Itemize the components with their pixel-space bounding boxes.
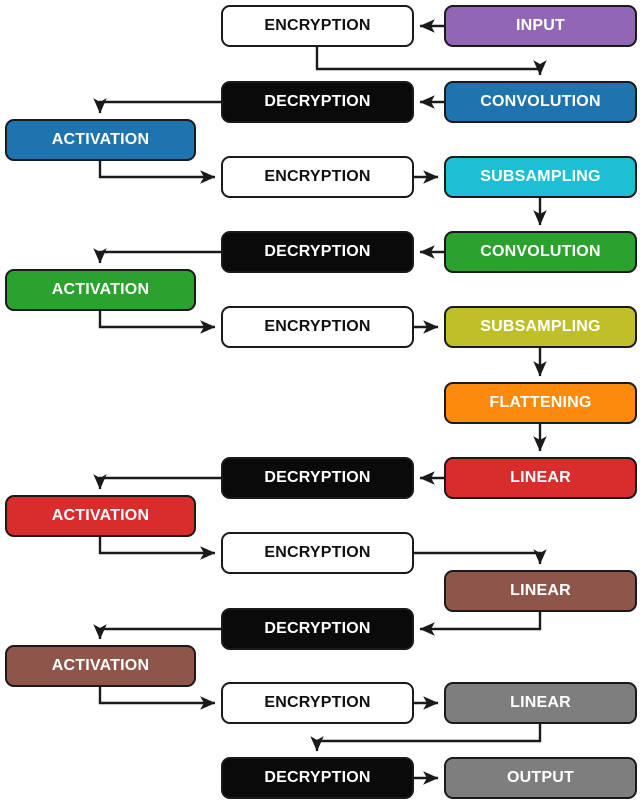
edge-decryption-2-to-activation-2 bbox=[100, 252, 221, 263]
edge-linear-2-to-decryption-4 bbox=[420, 612, 540, 629]
node-encryption-1[interactable]: ENCRYPTION bbox=[221, 5, 414, 47]
node-activation-3[interactable]: ACTIVATION bbox=[5, 495, 196, 537]
node-label-activation-4: ACTIVATION bbox=[52, 658, 149, 674]
node-decryption-4[interactable]: DECRYPTION bbox=[221, 608, 414, 650]
edge-decryption-4-to-activation-4 bbox=[100, 629, 221, 639]
node-activation-1[interactable]: ACTIVATION bbox=[5, 119, 196, 161]
node-label-decryption-3: DECRYPTION bbox=[264, 470, 370, 486]
node-label-encryption-5: ENCRYPTION bbox=[264, 695, 370, 711]
node-label-encryption-4: ENCRYPTION bbox=[264, 545, 370, 561]
node-convolution-2[interactable]: CONVOLUTION bbox=[444, 231, 637, 273]
node-flattening[interactable]: FLATTENING bbox=[444, 382, 637, 424]
node-label-convolution-2: CONVOLUTION bbox=[480, 244, 600, 260]
node-encryption-3[interactable]: ENCRYPTION bbox=[221, 306, 414, 348]
node-label-activation-2: ACTIVATION bbox=[52, 282, 149, 298]
node-label-output: OUTPUT bbox=[507, 770, 574, 786]
node-input[interactable]: INPUT bbox=[444, 5, 637, 47]
edge-decryption-1-to-activation-1 bbox=[100, 102, 221, 113]
node-label-encryption-1: ENCRYPTION bbox=[264, 18, 370, 34]
node-decryption-3[interactable]: DECRYPTION bbox=[221, 457, 414, 499]
node-subsampling-1[interactable]: SUBSAMPLING bbox=[444, 156, 637, 198]
node-label-decryption-1: DECRYPTION bbox=[264, 94, 370, 110]
edge-activation-4-to-encryption-5 bbox=[100, 687, 215, 703]
edge-encryption-1-to-convolution-1 bbox=[317, 47, 540, 75]
edge-encryption-4-to-linear-2 bbox=[414, 553, 540, 564]
node-label-linear-1: LINEAR bbox=[510, 470, 571, 486]
node-decryption-1[interactable]: DECRYPTION bbox=[221, 81, 414, 123]
edge-activation-2-to-encryption-3 bbox=[100, 311, 215, 327]
node-encryption-4[interactable]: ENCRYPTION bbox=[221, 532, 414, 574]
node-label-decryption-2: DECRYPTION bbox=[264, 244, 370, 260]
node-label-linear-2: LINEAR bbox=[510, 583, 571, 599]
node-label-decryption-5: DECRYPTION bbox=[264, 770, 370, 786]
node-convolution-1[interactable]: CONVOLUTION bbox=[444, 81, 637, 123]
edge-decryption-3-to-activation-3 bbox=[100, 478, 221, 489]
edge-linear-3-to-decryption-5 bbox=[317, 724, 540, 751]
node-output[interactable]: OUTPUT bbox=[444, 757, 637, 799]
node-label-activation-3: ACTIVATION bbox=[52, 508, 149, 524]
edge-activation-3-to-encryption-4 bbox=[100, 537, 215, 553]
node-activation-2[interactable]: ACTIVATION bbox=[5, 269, 196, 311]
node-label-encryption-3: ENCRYPTION bbox=[264, 319, 370, 335]
node-encryption-2[interactable]: ENCRYPTION bbox=[221, 156, 414, 198]
node-label-encryption-2: ENCRYPTION bbox=[264, 169, 370, 185]
node-decryption-2[interactable]: DECRYPTION bbox=[221, 231, 414, 273]
node-subsampling-2[interactable]: SUBSAMPLING bbox=[444, 306, 637, 348]
node-label-decryption-4: DECRYPTION bbox=[264, 621, 370, 637]
node-linear-3[interactable]: LINEAR bbox=[444, 682, 637, 724]
node-label-activation-1: ACTIVATION bbox=[52, 132, 149, 148]
node-label-linear-3: LINEAR bbox=[510, 695, 571, 711]
node-label-subsampling-1: SUBSAMPLING bbox=[480, 169, 600, 185]
node-label-input: INPUT bbox=[516, 18, 565, 34]
node-decryption-5[interactable]: DECRYPTION bbox=[221, 757, 414, 799]
flow-diagram: ENCRYPTIONINPUTDECRYPTIONCONVOLUTIONACTI… bbox=[0, 0, 640, 804]
node-label-convolution-1: CONVOLUTION bbox=[480, 94, 600, 110]
edge-activation-1-to-encryption-2 bbox=[100, 161, 215, 177]
node-label-flattening: FLATTENING bbox=[489, 395, 591, 411]
node-activation-4[interactable]: ACTIVATION bbox=[5, 645, 196, 687]
node-label-subsampling-2: SUBSAMPLING bbox=[480, 319, 600, 335]
node-linear-2[interactable]: LINEAR bbox=[444, 570, 637, 612]
node-linear-1[interactable]: LINEAR bbox=[444, 457, 637, 499]
node-encryption-5[interactable]: ENCRYPTION bbox=[221, 682, 414, 724]
